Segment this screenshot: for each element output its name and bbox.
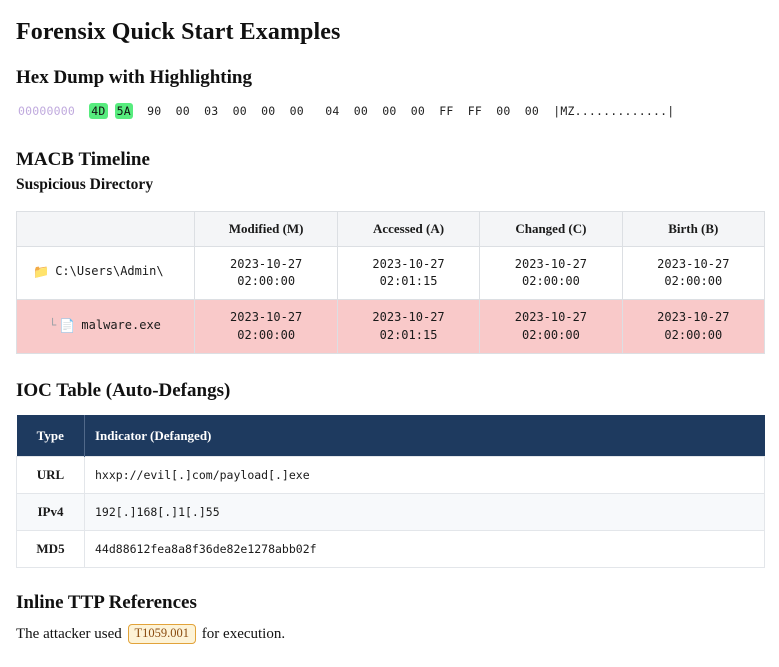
hex-byte-14: 00 [496, 104, 510, 118]
ttp-text-before: The attacker used [16, 626, 122, 642]
ttp-section: Inline TTP References The attacker used … [16, 592, 763, 645]
macb-accessed-date: 2023-10-27 [344, 256, 473, 273]
macb-col-accessed: Accessed (A) [337, 211, 479, 246]
macb-modified-date: 2023-10-27 [201, 256, 330, 273]
macb-birth-cell: 2023-10-2702:00:00 [622, 246, 764, 300]
hex-byte-6: 00 [261, 104, 275, 118]
macb-heading: MACB Timeline [16, 149, 763, 172]
macb-col-birth: Birth (B) [622, 211, 764, 246]
macb-modified-cell: 2023-10-2702:00:00 [195, 246, 337, 300]
ioc-table: Type Indicator (Defanged) URL hxxp://evi… [16, 415, 765, 569]
macb-col-changed: Changed (C) [480, 211, 622, 246]
macb-changed-cell: 2023-10-2702:00:00 [480, 300, 622, 354]
hex-byte-8: 04 [325, 104, 339, 118]
hex-byte-2: 90 [147, 104, 161, 118]
table-row: IPv4 192[.]168[.]1[.]55 [17, 494, 765, 531]
macb-birth-time: 02:00:00 [629, 273, 758, 290]
ioc-col-type: Type [17, 415, 85, 457]
ioc-section: IOC Table (Auto-Defangs) Type Indicator … [16, 380, 763, 568]
macb-col-name [17, 211, 195, 246]
hex-byte-4: 03 [204, 104, 218, 118]
macb-birth-time: 02:00:00 [629, 327, 758, 344]
hex-byte-5: 00 [233, 104, 247, 118]
macb-header-row: Modified (M) Accessed (A) Changed (C) Bi… [17, 211, 765, 246]
hex-byte-13: FF [468, 104, 482, 118]
macb-changed-date: 2023-10-27 [486, 309, 615, 326]
ioc-indicator-cell: hxxp://evil[.]com/payload[.]exe [85, 457, 765, 494]
macb-birth-date: 2023-10-27 [629, 256, 758, 273]
ioc-type-cell: MD5 [17, 531, 85, 568]
macb-modified-cell: 2023-10-2702:00:00 [195, 300, 337, 354]
hex-byte-15: 00 [525, 104, 539, 118]
hexdump-section: Hex Dump with Highlighting 00000000 4D 5… [16, 67, 763, 119]
hex-byte-9: 00 [354, 104, 368, 118]
macb-birth-cell: 2023-10-2702:00:00 [622, 300, 764, 354]
file-icon: 📄 [59, 319, 75, 334]
hex-byte-12: FF [439, 104, 453, 118]
macb-timeline-table: Modified (M) Accessed (A) Changed (C) Bi… [16, 211, 765, 355]
macb-changed-cell: 2023-10-2702:00:00 [480, 246, 622, 300]
ttp-technique-badge[interactable]: T1059.001 [128, 624, 197, 643]
table-row: └📄malware.exe 2023-10-2702:00:00 2023-10… [17, 300, 765, 354]
hex-byte-10: 00 [382, 104, 396, 118]
macb-accessed-cell: 2023-10-2702:01:15 [337, 300, 479, 354]
ioc-type-cell: IPv4 [17, 494, 85, 531]
macb-changed-time: 02:00:00 [486, 327, 615, 344]
ioc-indicator-cell: 192[.]168[.]1[.]55 [85, 494, 765, 531]
hex-byte-3: 00 [176, 104, 190, 118]
table-row: MD5 44d88612fea8a8f36de82e1278abb02f [17, 531, 765, 568]
folder-icon: 📁 [33, 265, 49, 280]
table-row: URL hxxp://evil[.]com/payload[.]exe [17, 457, 765, 494]
macb-changed-date: 2023-10-27 [486, 256, 615, 273]
hex-ascii: |MZ.............| [553, 104, 674, 118]
document-page: Forensix Quick Start Examples Hex Dump w… [0, 0, 779, 646]
macb-section: MACB Timeline Suspicious Directory Modif… [16, 149, 763, 354]
macb-subheading: Suspicious Directory [16, 176, 763, 195]
ttp-sentence: The attacker used T1059.001 for executio… [16, 623, 763, 646]
ttp-heading: Inline TTP References [16, 592, 763, 615]
ioc-col-indicator: Indicator (Defanged) [85, 415, 765, 457]
hexdump-row: 00000000 4D 5A 90 00 03 00 00 00 04 00 0… [18, 104, 763, 120]
page-title: Forensix Quick Start Examples [16, 18, 763, 47]
macb-accessed-cell: 2023-10-2702:01:15 [337, 246, 479, 300]
macb-col-modified: Modified (M) [195, 211, 337, 246]
hex-highlight-byte-0: 4D [89, 103, 107, 119]
ioc-header-row: Type Indicator (Defanged) [17, 415, 765, 457]
hex-byte-11: 00 [411, 104, 425, 118]
macb-modified-date: 2023-10-27 [201, 309, 330, 326]
macb-modified-time: 02:00:00 [201, 273, 330, 290]
hexdump-heading: Hex Dump with Highlighting [16, 67, 763, 90]
hex-byte-7: 00 [290, 104, 304, 118]
ttp-text-after: for execution. [202, 626, 285, 642]
hex-offset: 00000000 [18, 104, 75, 118]
ioc-type-cell: URL [17, 457, 85, 494]
ioc-heading: IOC Table (Auto-Defangs) [16, 380, 763, 403]
ioc-indicator-cell: 44d88612fea8a8f36de82e1278abb02f [85, 531, 765, 568]
hex-highlight-byte-1: 5A [115, 103, 133, 119]
macb-path-label: malware.exe [81, 318, 160, 332]
macb-path-label: C:\Users\Admin\ [55, 264, 163, 278]
tree-branch-icon: └ [49, 318, 56, 332]
macb-birth-date: 2023-10-27 [629, 309, 758, 326]
macb-modified-time: 02:00:00 [201, 327, 330, 344]
macb-path-cell: 📁C:\Users\Admin\ [17, 246, 195, 300]
macb-accessed-date: 2023-10-27 [344, 309, 473, 326]
macb-accessed-time: 02:01:15 [344, 273, 473, 290]
macb-changed-time: 02:00:00 [486, 273, 615, 290]
macb-accessed-time: 02:01:15 [344, 327, 473, 344]
table-row: 📁C:\Users\Admin\ 2023-10-2702:00:00 2023… [17, 246, 765, 300]
macb-path-cell: └📄malware.exe [17, 300, 195, 354]
